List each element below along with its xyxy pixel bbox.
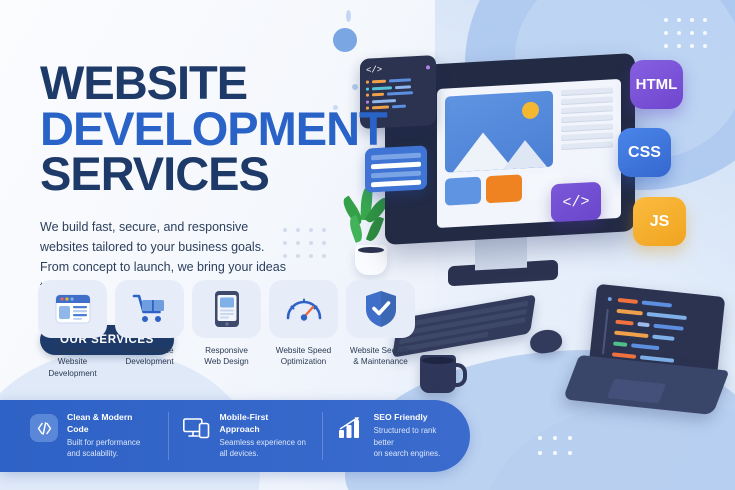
code-brackets-icon: [30, 414, 58, 442]
speedometer-icon: [285, 293, 323, 325]
feature-item-mobile-first-approach[interactable]: Mobile-First Approach Seamless experienc…: [168, 412, 322, 459]
code-brackets-icon: </>: [366, 65, 382, 76]
page-title: WEBSITE DEVELOPMENT SERVICES: [40, 61, 360, 195]
service-item-custom-website-development[interactable]: CustomWebsite Development: [38, 280, 107, 379]
service-icon-tile: [269, 280, 338, 338]
shopping-cart-icon: [132, 293, 168, 325]
feature-description: Built for performanceand scalability.: [67, 437, 154, 460]
code-bubble-icon: </>: [551, 182, 601, 223]
webpage-text-lines: [561, 87, 613, 153]
feature-item-seo-friendly[interactable]: SEO Friendly Structured to rank betteron…: [322, 412, 470, 460]
hero-illustration: </> </> HTML CSS JS: [355, 35, 735, 455]
service-label: E-CommerceDevelopment: [125, 345, 173, 368]
service-label: CustomWebsite Development: [38, 345, 107, 379]
mug-rim: [422, 357, 454, 364]
decorative-circle-4: [346, 10, 351, 22]
feature-text: Mobile-First Approach Seamless experienc…: [220, 412, 308, 459]
title-line-1: WEBSITE: [40, 61, 360, 104]
feature-bar: Clean & Modern Code Built for performanc…: [0, 400, 470, 472]
bar-chart-icon: [337, 414, 365, 442]
mouse-illustration: [528, 328, 563, 356]
services-row: CustomWebsite Development E-CommerceDeve…: [38, 280, 415, 379]
shield-check-icon: [364, 290, 398, 328]
feature-description: Structured to rank betteron search engin…: [374, 425, 456, 459]
service-item-responsive-web-design[interactable]: ResponsiveWeb Design: [192, 280, 261, 379]
service-label: Website Security& Maintenance: [350, 345, 411, 368]
service-item-website-speed-optimization[interactable]: Website SpeedOptimization: [269, 280, 338, 379]
feature-description: Seamless experience onall devices.: [220, 437, 308, 460]
feature-title: Clean & Modern Code: [67, 412, 154, 434]
laptop-illustration: [565, 290, 725, 410]
mobile-phone-icon: [214, 290, 240, 328]
feature-item-clean-modern-code[interactable]: Clean & Modern Code Built for performanc…: [30, 412, 168, 459]
devices-icon: [183, 414, 211, 442]
sun-shape-icon: [522, 101, 539, 119]
tech-badge-html[interactable]: HTML: [630, 60, 683, 109]
browser-window-icon: [55, 294, 91, 324]
webpage-tile-orange: [486, 174, 522, 203]
service-item-website-security-maintenance[interactable]: Website Security& Maintenance: [346, 280, 415, 379]
poster-canvas: </> </> HTML CSS JS: [0, 0, 735, 490]
feature-title: Mobile-First Approach: [220, 412, 308, 434]
feature-text: SEO Friendly Structured to rank betteron…: [374, 412, 456, 460]
title-line-2: DEVELOPMENT: [40, 107, 360, 150]
title-line-3: SERVICES: [40, 152, 360, 195]
service-label: Website SpeedOptimization: [276, 345, 331, 368]
mountain-shape-2: [503, 139, 547, 169]
service-icon-tile: [192, 280, 261, 338]
service-icon-tile: [115, 280, 184, 338]
tech-badge-css[interactable]: CSS: [618, 128, 671, 177]
service-label: ResponsiveWeb Design: [204, 345, 248, 368]
service-icon-tile: [346, 280, 415, 338]
coffee-mug-illustration: [420, 355, 456, 393]
tech-badge-label: HTML: [636, 76, 678, 93]
laptop-trackpad: [607, 379, 666, 404]
feature-text: Clean & Modern Code Built for performanc…: [67, 412, 154, 459]
service-item-ecommerce-development[interactable]: E-CommerceDevelopment: [115, 280, 184, 379]
webpage-tile-blue: [445, 177, 481, 206]
tech-badge-js[interactable]: JS: [633, 197, 686, 246]
tech-badge-label: CSS: [628, 144, 661, 162]
tech-badge-label: JS: [650, 213, 670, 231]
service-icon-tile: [38, 280, 107, 338]
webpage-hero-image: [445, 91, 553, 173]
feature-title: SEO Friendly: [374, 412, 456, 423]
